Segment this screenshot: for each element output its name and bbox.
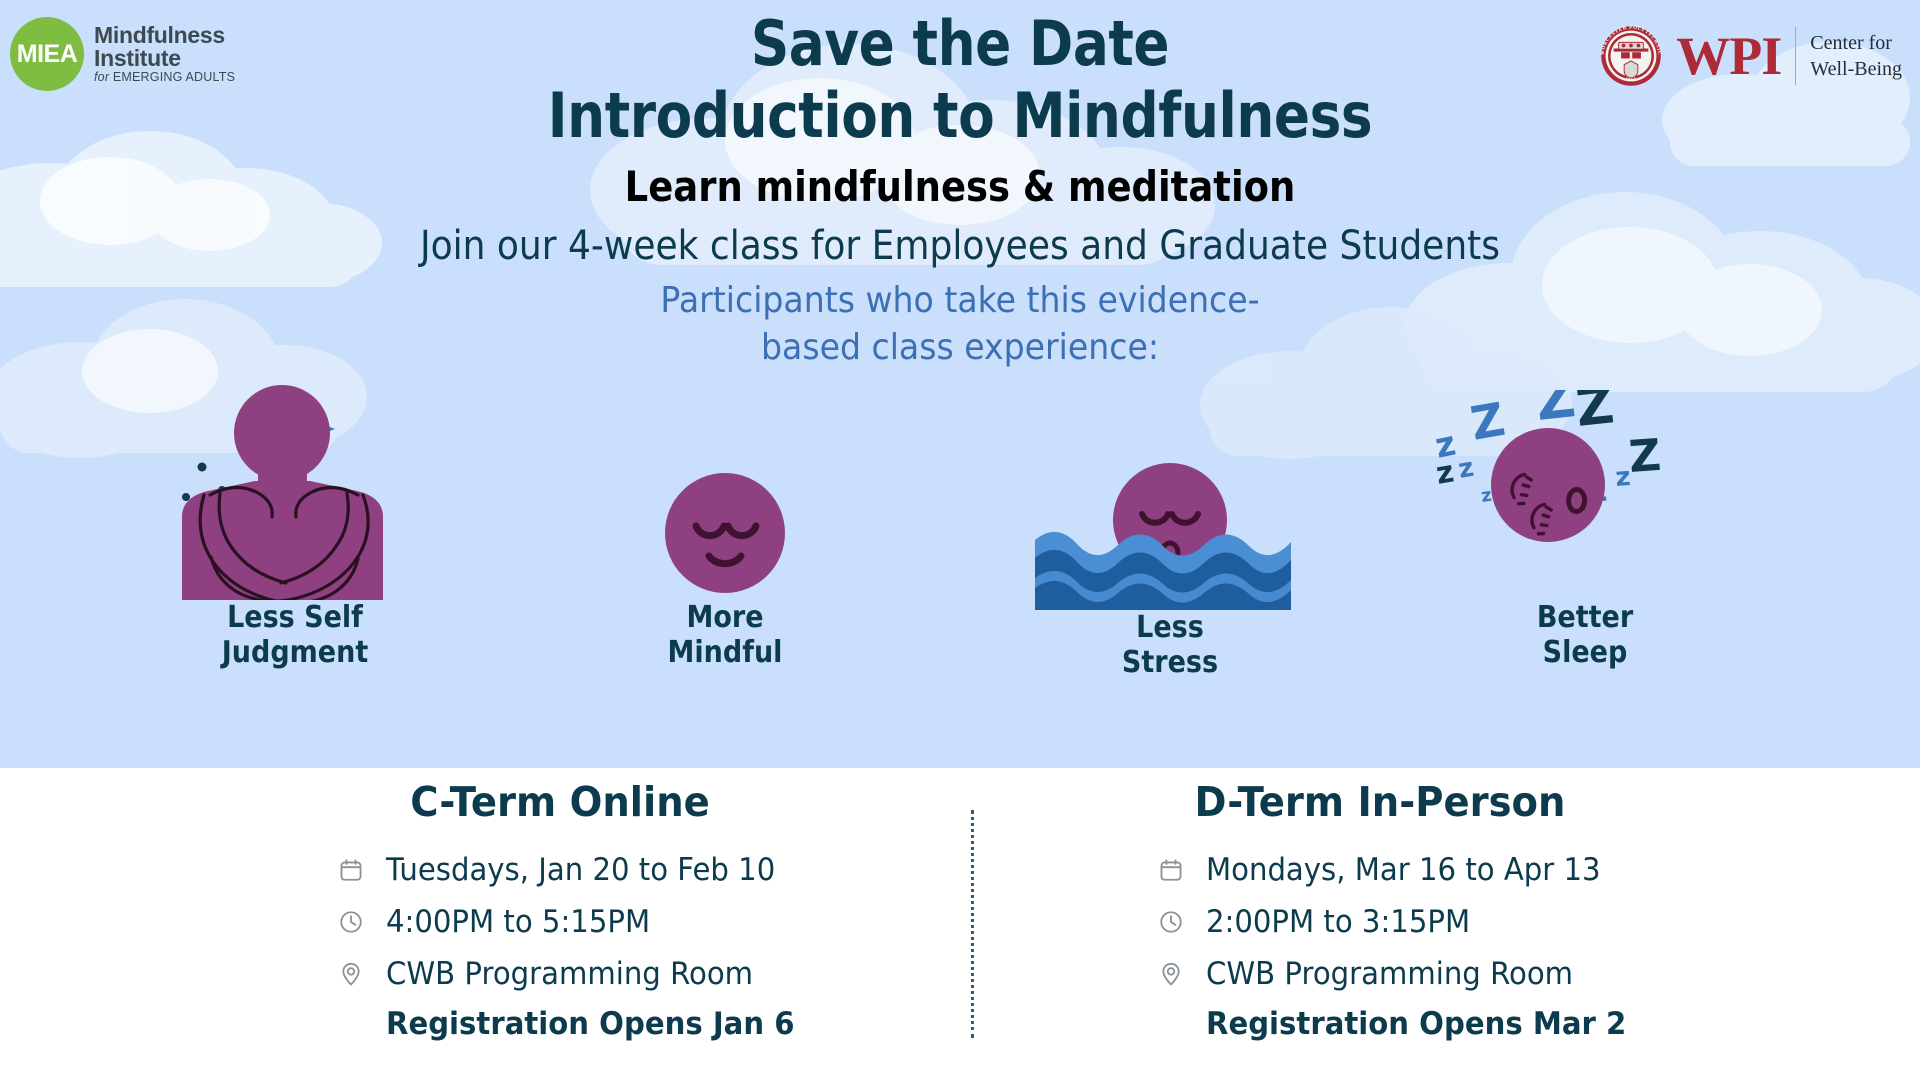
term-row-location: CWB Programming Room — [338, 948, 930, 1000]
benefit-label: More Mindful — [613, 600, 838, 670]
svg-text:z: z — [1456, 453, 1476, 485]
term-row-text: Mondays, Mar 16 to Apr 13 — [1206, 852, 1601, 888]
term-registration-note: Registration Opens Jan 6 — [386, 1006, 897, 1042]
term-detail-rows: Tuesdays, Jan 20 to Feb 10 4:00PM to 5:1… — [190, 844, 930, 1042]
benefit-label: Less Stress — [1044, 610, 1296, 680]
svg-text:Z: Z — [1533, 390, 1579, 433]
svg-text:Z: Z — [1573, 390, 1617, 439]
term-detail-rows: Mondays, Mar 16 to Apr 13 2:00PM to 3:15… — [1010, 844, 1750, 1042]
benefit-label: Less Self Judgment — [165, 600, 426, 670]
terms-section: C-Term Online Tuesdays, Jan 20 to Feb 10… — [0, 768, 1920, 1080]
self-hug-person-icon — [150, 385, 440, 600]
calm-face-icon — [600, 470, 850, 600]
sleeping-face-zzz-icon: z z Z z Z z z Z Z z z Z z Z z z — [1430, 390, 1740, 600]
page-title-line-1: Save the Date — [134, 8, 1785, 80]
term-row-time: 4:00PM to 5:15PM — [338, 896, 930, 948]
term-row-text: CWB Programming Room — [1206, 956, 1573, 992]
benefit-item-less-self-judgment: Less Self Judgment — [150, 385, 440, 670]
term-row-time: 2:00PM to 3:15PM — [1158, 896, 1750, 948]
benefit-label-line-2: Judgment — [165, 635, 426, 670]
clock-icon — [338, 909, 364, 935]
benefit-item-better-sleep: z z Z z Z z z Z Z z z Z z Z z z — [1430, 390, 1740, 670]
term-row-text: 4:00PM to 5:15PM — [386, 904, 650, 940]
benefit-label-line-2: Sleep — [1446, 635, 1725, 670]
term-title: C-Term Online — [212, 778, 908, 826]
benefit-label-line-2: Stress — [1044, 645, 1296, 680]
svg-text:Z: Z — [1467, 392, 1509, 451]
sky-background-panel: MIEA Mindfulness Institute for EMERGING … — [0, 0, 1920, 768]
map-pin-icon — [1158, 961, 1184, 987]
benefit-label-line-1: Less Self — [165, 600, 426, 635]
term-column-d-term: D-Term In-Person Mondays, Mar 16 to Apr … — [1010, 778, 1750, 1042]
benefit-item-less-stress: Less Stress — [1030, 460, 1310, 680]
benefit-label-line-2: Mindful — [613, 635, 838, 670]
benefit-label-line-1: Less — [1044, 610, 1296, 645]
term-row-text: Tuesdays, Jan 20 to Feb 10 — [386, 852, 775, 888]
svg-text:Z: Z — [1627, 430, 1662, 483]
term-row-text: CWB Programming Room — [386, 956, 753, 992]
benefit-label: Better Sleep — [1446, 600, 1725, 670]
term-row-date: Tuesdays, Jan 20 to Feb 10 — [338, 844, 930, 896]
benefit-label-line-1: More — [613, 600, 838, 635]
term-title: D-Term In-Person — [1032, 778, 1728, 826]
term-registration-note: Registration Opens Mar 2 — [1206, 1006, 1717, 1042]
calendar-icon — [1158, 857, 1184, 883]
subtitle-regular: Join our 4-week class for Employees and … — [96, 223, 1824, 269]
page-title-line-2: Introduction to Mindfulness — [134, 80, 1785, 152]
terms-vertical-divider — [971, 810, 974, 1038]
benefit-item-more-mindful: More Mindful — [600, 470, 850, 670]
term-row-location: CWB Programming Room — [1158, 948, 1750, 1000]
lead-text-line-1: Participants who take this evidence- — [77, 277, 1843, 325]
subtitle-bold: Learn mindfulness & meditation — [115, 162, 1805, 211]
face-in-waves-icon — [1030, 460, 1310, 610]
clock-icon — [1158, 909, 1184, 935]
map-pin-icon — [338, 961, 364, 987]
calendar-icon — [338, 857, 364, 883]
header-block: Save the Date Introduction to Mindfulnes… — [0, 8, 1920, 372]
term-row-date: Mondays, Mar 16 to Apr 13 — [1158, 844, 1750, 896]
term-row-text: 2:00PM to 3:15PM — [1206, 904, 1470, 940]
term-column-c-term: C-Term Online Tuesdays, Jan 20 to Feb 10… — [190, 778, 930, 1042]
lead-text: Participants who take this evidence- bas… — [77, 277, 1843, 372]
lead-text-line-2: based class experience: — [77, 324, 1843, 372]
benefit-label-line-1: Better — [1446, 600, 1725, 635]
